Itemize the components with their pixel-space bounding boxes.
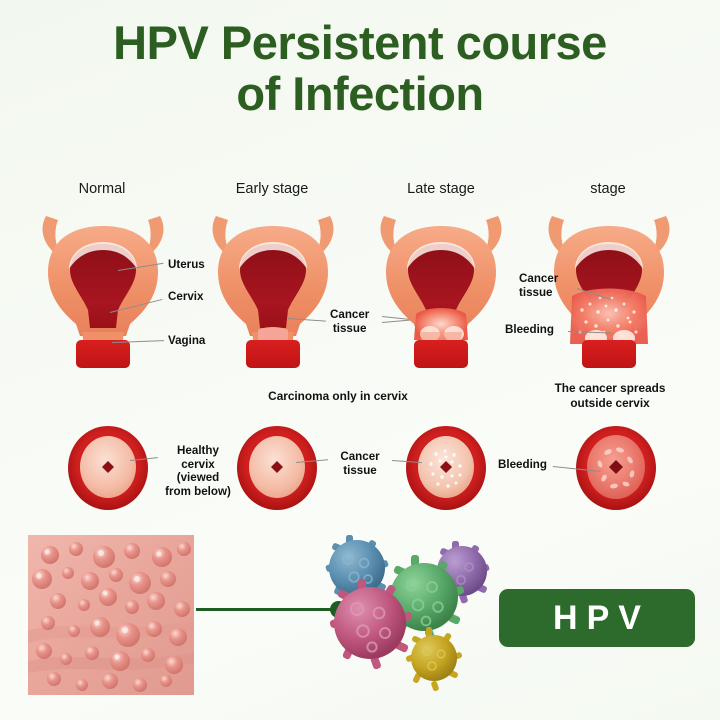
uterus-late-svg: [356, 200, 526, 372]
uterus-diagram-late: [356, 200, 526, 372]
stage-label-final: stage: [548, 181, 668, 197]
uterus-diagram-normal: [18, 200, 188, 372]
label-cervix-bleeding: Bleeding: [498, 458, 547, 472]
connector-line: [196, 608, 336, 611]
title-line-1: HPV Persistent course: [113, 16, 607, 69]
caption-final: The cancer spreads outside cervix: [520, 381, 700, 410]
uterus-diagram-early: [188, 200, 358, 372]
cervix-healthy-2-svg: [231, 424, 323, 512]
stage-label-early: Early stage: [212, 181, 332, 197]
cervix-cancer-svg: [400, 424, 492, 512]
stage-label-late: Late stage: [381, 181, 501, 197]
stage-label-normal: Normal: [42, 181, 162, 197]
hpv-badge: HPV: [499, 589, 695, 647]
label-bleeding-uterus: Bleeding: [505, 323, 554, 337]
cervix-view-cancer: [400, 424, 492, 512]
label-cervix-cancer-tissue: Cancer tissue: [330, 450, 390, 477]
tissue-micrograph: [28, 535, 194, 695]
virus-cluster-svg: [316, 535, 496, 700]
cervix-view-bleeding: [570, 424, 662, 512]
label-healthy-cervix: Healthy cervix (viewed from below): [158, 444, 238, 499]
uterus-normal-svg: [18, 200, 188, 372]
virus-cluster: [316, 535, 496, 700]
cervix-view-healthy-1: [62, 424, 154, 512]
tissue-micrograph-svg: [28, 535, 194, 695]
page-title: HPV Persistent course of Infection: [0, 18, 720, 120]
caption-early: Carcinoma only in cervix: [228, 389, 448, 404]
label-cancer-tissue-final: Cancer tissue: [519, 272, 558, 299]
title-line-2: of Infection: [0, 69, 720, 120]
yellow-virus: [405, 627, 462, 692]
cervix-bleeding-svg: [570, 424, 662, 512]
hpv-badge-text: HPV: [544, 599, 650, 638]
cervix-healthy-1-svg: [62, 424, 154, 512]
cervix-view-healthy-2: [231, 424, 323, 512]
uterus-early-svg: [188, 200, 358, 372]
